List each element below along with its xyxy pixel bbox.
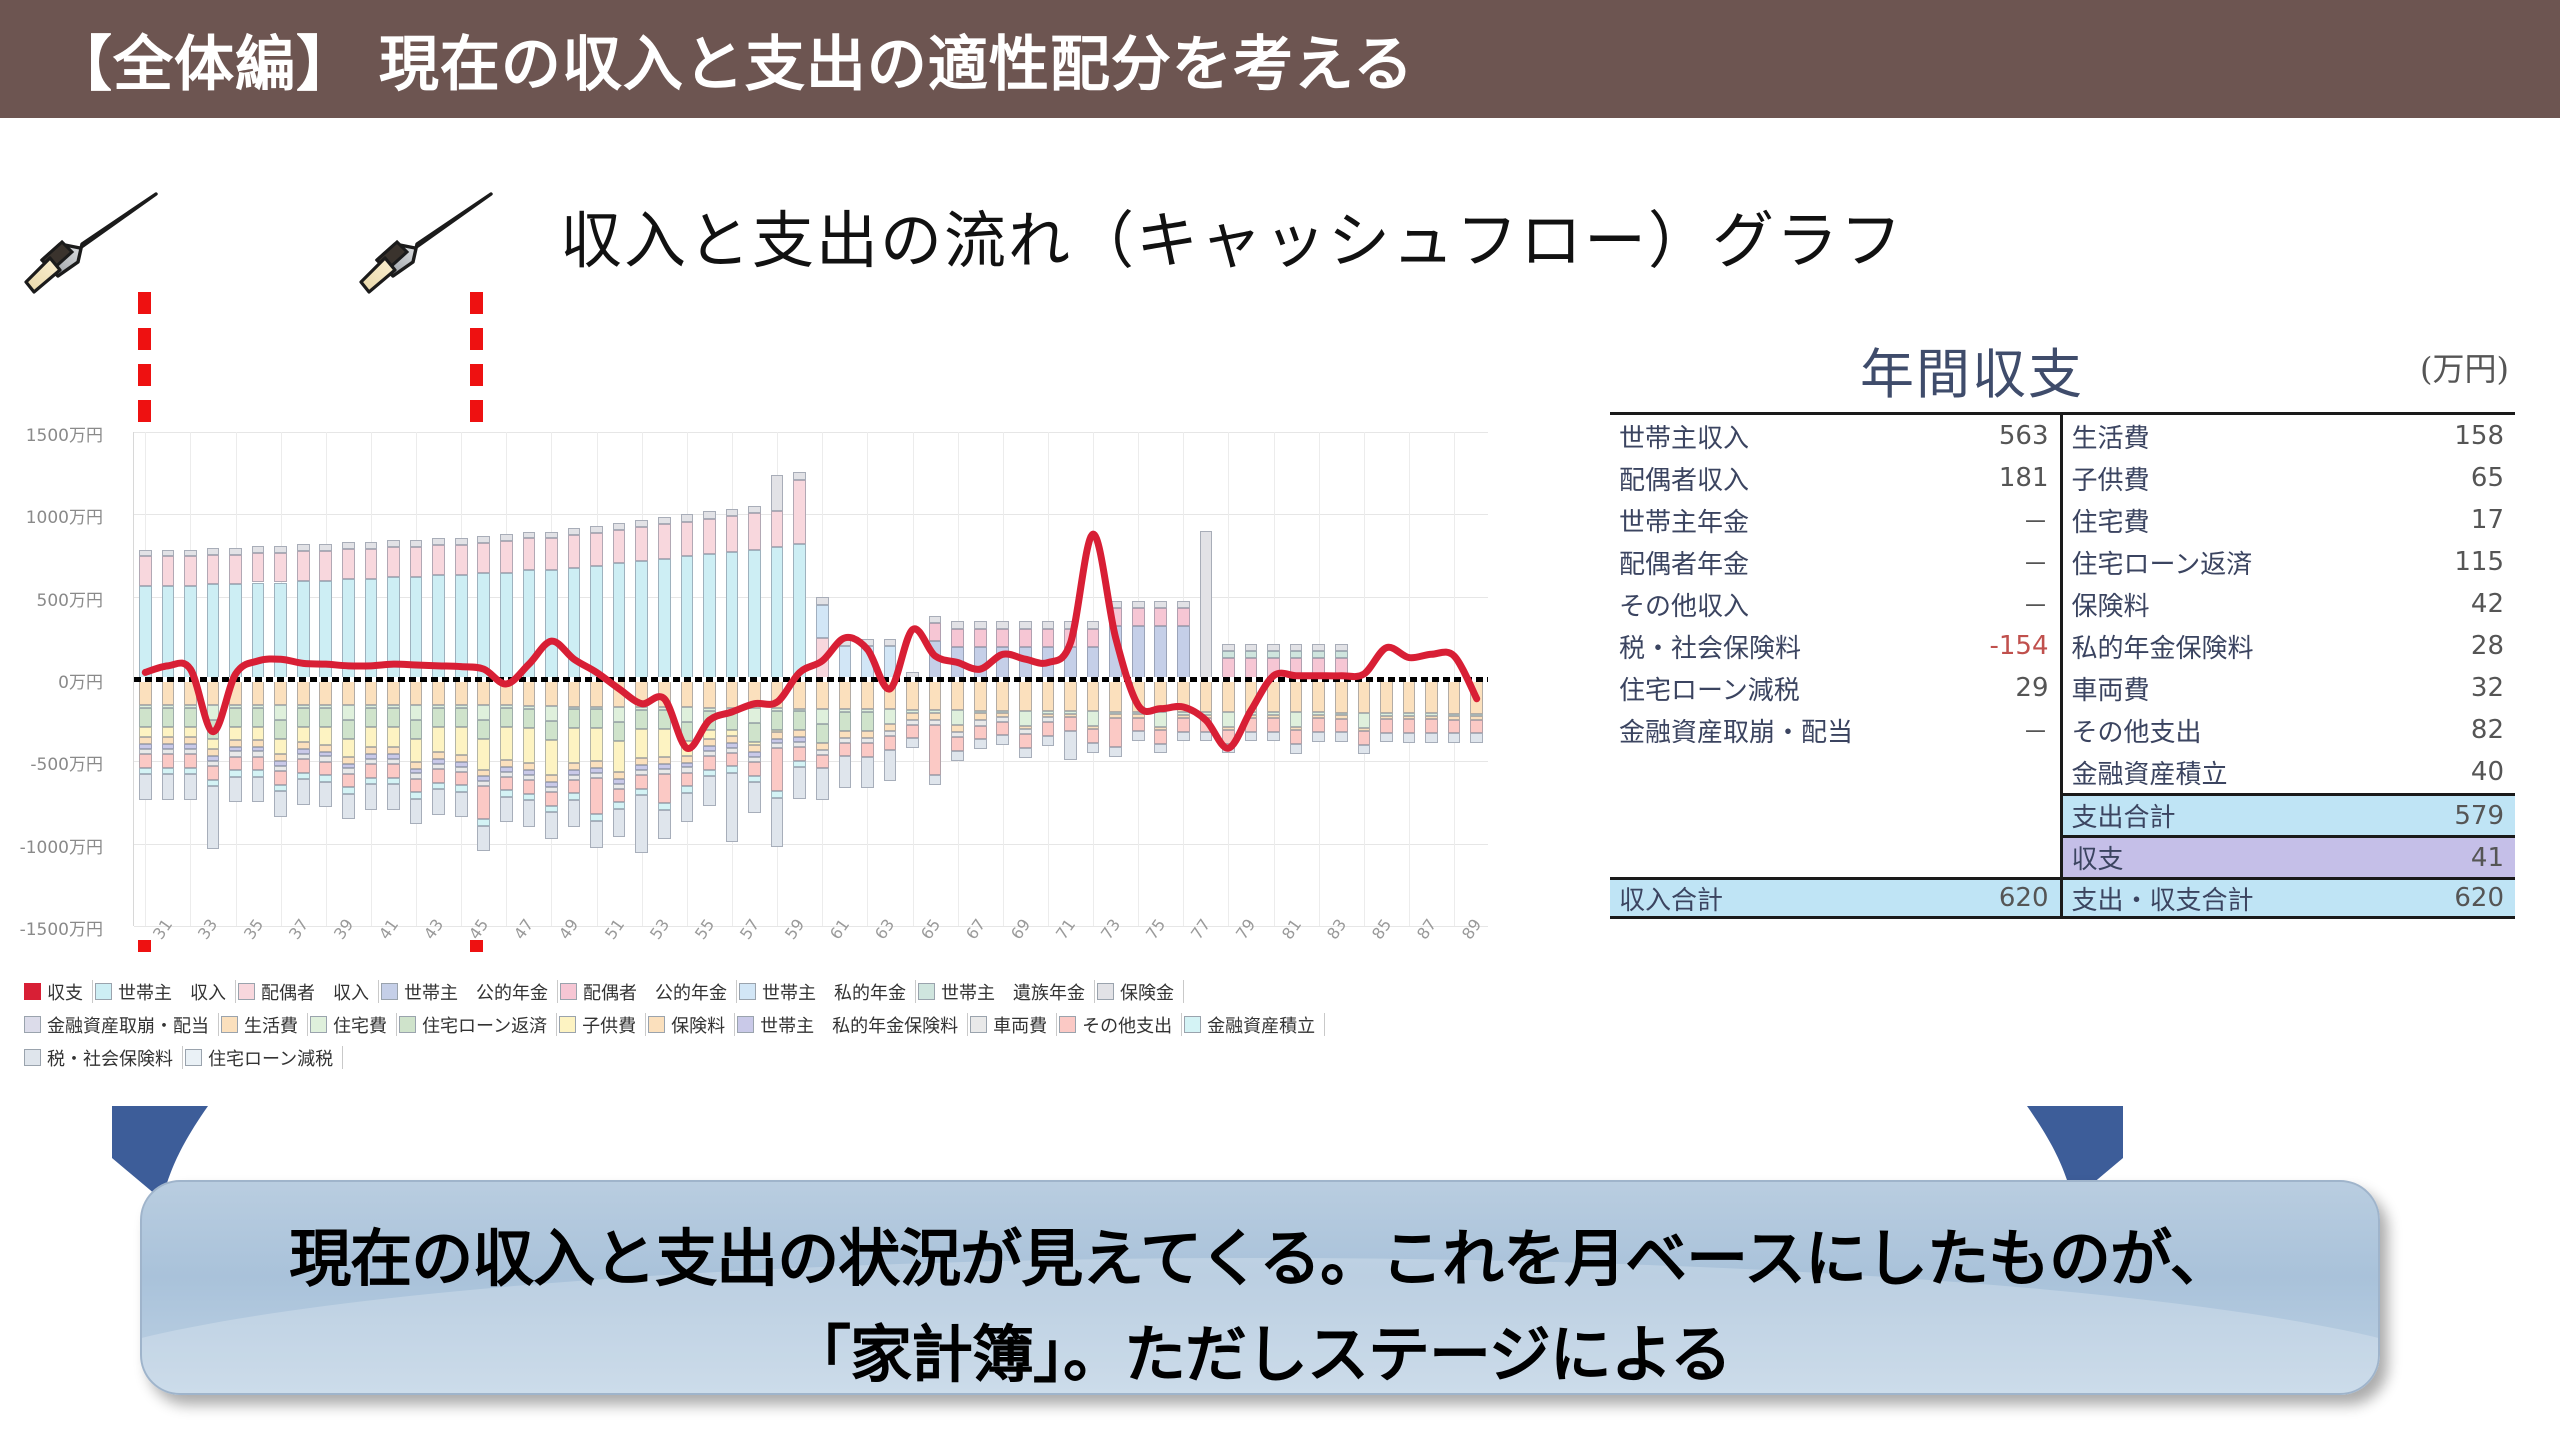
table-row-value: -154 (1989, 631, 2059, 661)
annual-budget-table: 年間収支 (万円) 世帯主収入563配偶者収入181世帯主年金－配偶者年金－その… (1610, 330, 2515, 919)
legend-swatch-icon (1097, 983, 1114, 1000)
table-row-value: 82 (2471, 715, 2515, 745)
table-row-label: 子供費 (2063, 460, 2471, 497)
legend-label: 配偶者 公的年金 (583, 979, 727, 1005)
table-row-value: 28 (2471, 631, 2515, 661)
table-row-value: － (2022, 586, 2059, 623)
table-row: 支出合計579 (2063, 793, 2516, 835)
table-row-label: 支出合計 (2063, 797, 2455, 834)
legend-item[interactable]: 世帯主 公的年金 (379, 980, 558, 1003)
legend-label: 金融資産積立 (1207, 1012, 1315, 1038)
budget-income-column: 世帯主収入563配偶者収入181世帯主年金－配偶者年金－その他収入－税・社会保険… (1610, 415, 2063, 919)
kitchen-knife-icon (20, 182, 170, 302)
header-bar: 【全体編】 現在の収入と支出の適性配分を考える (0, 0, 2560, 118)
legend-swatch-icon (238, 983, 255, 1000)
table-row-label: 配偶者収入 (1610, 460, 1999, 497)
legend-item[interactable]: 配偶者 公的年金 (558, 980, 737, 1003)
legend-swatch-icon (1184, 1016, 1201, 1033)
legend-swatch-icon (1059, 1016, 1076, 1033)
table-row-label: その他収入 (1610, 586, 2022, 623)
table-row: 住宅費17 (2063, 499, 2516, 541)
legend-label: 世帯主 私的年金保険料 (760, 1012, 958, 1038)
table-row-label: 世帯主年金 (1610, 502, 2022, 539)
chart-title: 収入と支出の流れ（キャッシュフロー）グラフ (560, 190, 1904, 280)
legend-swatch-icon (24, 983, 41, 1000)
legend-swatch-icon (24, 1016, 41, 1033)
legend-row: 金融資産取崩・配当生活費住宅費住宅ローン返済子供費保険料世帯主 私的年金保険料車… (22, 1008, 1522, 1041)
legend-item[interactable]: 生活費 (219, 1013, 308, 1036)
legend-item[interactable]: 金融資産積立 (1182, 1013, 1325, 1036)
chart-plot-area: 1500万円1000万円500万円0万円-500万円-1000万円-1500万円… (133, 432, 1488, 926)
legend-item[interactable]: 配偶者 収入 (236, 980, 379, 1003)
legend-item[interactable]: 保険金 (1095, 980, 1184, 1003)
legend-swatch-icon (221, 1016, 238, 1033)
legend-item[interactable]: 金融資産取崩・配当 (22, 1013, 219, 1036)
legend-item[interactable]: 車両費 (968, 1013, 1057, 1036)
legend-swatch-icon (185, 1049, 202, 1066)
kitchen-knife-icon (355, 182, 505, 302)
table-row-value: 29 (2015, 673, 2059, 703)
y-axis-tick-label: 0万円 (0, 668, 103, 693)
table-row-value: 158 (2454, 421, 2515, 451)
table-row-label: 収支 (2063, 839, 2471, 876)
table-row-value: 181 (1999, 463, 2060, 493)
table-row-label: 収入合計 (1610, 880, 1999, 917)
table-row-value: － (2022, 712, 2059, 749)
legend-item[interactable]: 税・社会保険料 (22, 1046, 183, 1069)
budget-grid: 世帯主収入563配偶者収入181世帯主年金－配偶者年金－その他収入－税・社会保険… (1610, 412, 2515, 919)
legend-swatch-icon (970, 1016, 987, 1033)
table-row: 保険料42 (2063, 583, 2516, 625)
legend-swatch-icon (648, 1016, 665, 1033)
legend-item[interactable]: 収支 (22, 980, 93, 1003)
legend-item[interactable]: 保険料 (646, 1013, 735, 1036)
y-axis-tick-label: 1000万円 (0, 503, 103, 528)
legend-label: 税・社会保険料 (47, 1045, 173, 1071)
legend-label: 収支 (47, 979, 83, 1005)
legend-swatch-icon (399, 1016, 416, 1033)
table-row: 支出・収支合計620 (2063, 877, 2516, 919)
balance-line-series (134, 432, 1488, 926)
table-row: 私的年金保険料28 (2063, 625, 2516, 667)
budget-unit-label: (万円) (2420, 344, 2509, 390)
table-row-label: 住宅ローン返済 (2063, 544, 2455, 581)
table-row-label: 配偶者年金 (1610, 544, 2022, 581)
table-row-label: 保険料 (2063, 586, 2471, 623)
table-row-label: 金融資産積立 (2063, 754, 2471, 791)
cashflow-chart: 1500万円1000万円500万円0万円-500万円-1000万円-1500万円… (20, 418, 1510, 948)
table-row-value: 115 (2454, 547, 2515, 577)
table-row-label: 住宅ローン減税 (1610, 670, 2015, 707)
legend-swatch-icon (739, 983, 756, 1000)
legend-swatch-icon (559, 1016, 576, 1033)
legend-label: 保険金 (1120, 979, 1174, 1005)
table-row-value: 40 (2471, 757, 2515, 787)
legend-label: 金融資産取崩・配当 (47, 1012, 209, 1038)
callout-text-line-1: 現在の収入と支出の状況が見えてくる。これを月ベースにしたものが、 (142, 1208, 2378, 1298)
table-row-value: 42 (2471, 589, 2515, 619)
legend-row: 税・社会保険料住宅ローン減税 (22, 1041, 1522, 1074)
callout-text-line-2: 「家計簿」。ただしステージによる (142, 1304, 2378, 1394)
table-row-value: 579 (2454, 801, 2515, 831)
table-row: 税・社会保険料-154 (1610, 625, 2060, 667)
legend-label: その他支出 (1082, 1012, 1172, 1038)
table-row: 子供費65 (2063, 457, 2516, 499)
legend-label: 配偶者 収入 (261, 979, 369, 1005)
table-row-label: その他支出 (2063, 712, 2471, 749)
legend-item[interactable]: その他支出 (1057, 1013, 1182, 1036)
legend-label: 世帯主 公的年金 (404, 979, 548, 1005)
legend-row: 収支世帯主 収入配偶者 収入世帯主 公的年金配偶者 公的年金世帯主 私的年金世帯… (22, 975, 1522, 1008)
table-row: 住宅ローン減税29 (1610, 667, 2060, 709)
legend-swatch-icon (381, 983, 398, 1000)
legend-label: 住宅ローン減税 (208, 1045, 333, 1071)
legend-item[interactable]: 世帯主 私的年金 (737, 980, 916, 1003)
y-axis-tick-label: 500万円 (0, 586, 103, 611)
table-row-value: 17 (2471, 505, 2515, 535)
legend-swatch-icon (560, 983, 577, 1000)
table-row: 収入合計620 (1610, 877, 2060, 919)
table-row-value: － (2022, 544, 2059, 581)
table-row: 収支41 (2063, 835, 2516, 877)
legend-item[interactable]: 子供費 (557, 1013, 646, 1036)
legend-item[interactable]: 住宅ローン返済 (397, 1013, 557, 1036)
legend-swatch-icon (95, 983, 112, 1000)
table-row-label: 税・社会保険料 (1610, 628, 1989, 665)
table-row: 配偶者収入181 (1610, 457, 2060, 499)
legend-label: 住宅ローン返済 (422, 1012, 547, 1038)
table-row: 配偶者年金－ (1610, 541, 2060, 583)
table-row-value: 32 (2471, 673, 2515, 703)
legend-swatch-icon (737, 1016, 754, 1033)
budget-expense-column: 生活費158子供費65住宅費17住宅ローン返済115保険料42私的年金保険料28… (2063, 415, 2516, 919)
legend-label: 世帯主 私的年金 (762, 979, 906, 1005)
y-axis-tick-label: -1500万円 (0, 915, 103, 940)
table-row-value: 620 (1999, 883, 2060, 913)
legend-item[interactable]: 世帯主 私的年金保険料 (735, 1013, 968, 1036)
table-row: その他支出82 (2063, 709, 2516, 751)
table-row: その他収入－ (1610, 583, 2060, 625)
table-row-value: 41 (2471, 843, 2515, 873)
y-axis-tick-label: -1000万円 (0, 833, 103, 858)
table-row: 生活費158 (2063, 415, 2516, 457)
table-row-label: 生活費 (2063, 418, 2455, 455)
legend-item[interactable]: 世帯主 遺族年金 (916, 980, 1095, 1003)
table-row-label: 金融資産取崩・配当 (1610, 712, 2022, 749)
legend-swatch-icon (24, 1049, 41, 1066)
legend-swatch-icon (310, 1016, 327, 1033)
legend-label: 車両費 (993, 1012, 1047, 1038)
callout-box: 現在の収入と支出の状況が見えてくる。これを月ベースにしたものが、 「家計簿」。た… (140, 1180, 2380, 1395)
legend-label: 世帯主 遺族年金 (941, 979, 1085, 1005)
legend-swatch-icon (918, 983, 935, 1000)
legend-item[interactable]: 世帯主 収入 (93, 980, 236, 1003)
page-title: 【全体編】 現在の収入と支出の適性配分を考える (52, 16, 1414, 103)
legend-label: 子供費 (582, 1012, 636, 1038)
legend-item[interactable]: 住宅費 (308, 1013, 397, 1036)
table-row-value: 563 (1999, 421, 2060, 451)
table-row-label: 世帯主収入 (1610, 418, 1999, 455)
table-row: 金融資産積立40 (2063, 751, 2516, 793)
table-row-label: 私的年金保険料 (2063, 628, 2471, 665)
legend-item[interactable]: 住宅ローン減税 (183, 1046, 343, 1069)
table-row-value: － (2022, 502, 2059, 539)
legend-label: 生活費 (244, 1012, 298, 1038)
table-row: 世帯主年金－ (1610, 499, 2060, 541)
table-row: 住宅ローン返済115 (2063, 541, 2516, 583)
table-row-value: 620 (2454, 883, 2515, 913)
budget-title: 年間収支 (1860, 330, 2084, 409)
legend-label: 保険料 (671, 1012, 725, 1038)
y-axis-tick-label: 1500万円 (0, 421, 103, 446)
table-row-label: 車両費 (2063, 670, 2471, 707)
table-row: 車両費32 (2063, 667, 2516, 709)
table-row: 金融資産取崩・配当－ (1610, 709, 2060, 751)
budget-header: 年間収支 (万円) (1610, 330, 2515, 412)
chart-legend: 収支世帯主 収入配偶者 収入世帯主 公的年金配偶者 公的年金世帯主 私的年金世帯… (22, 975, 1522, 1074)
table-row-value: 65 (2471, 463, 2515, 493)
legend-label: 住宅費 (333, 1012, 387, 1038)
y-axis-tick-label: -500万円 (0, 750, 103, 775)
legend-label: 世帯主 収入 (118, 979, 226, 1005)
table-row-label: 支出・収支合計 (2063, 880, 2455, 917)
table-row: 世帯主収入563 (1610, 415, 2060, 457)
table-row-label: 住宅費 (2063, 502, 2471, 539)
